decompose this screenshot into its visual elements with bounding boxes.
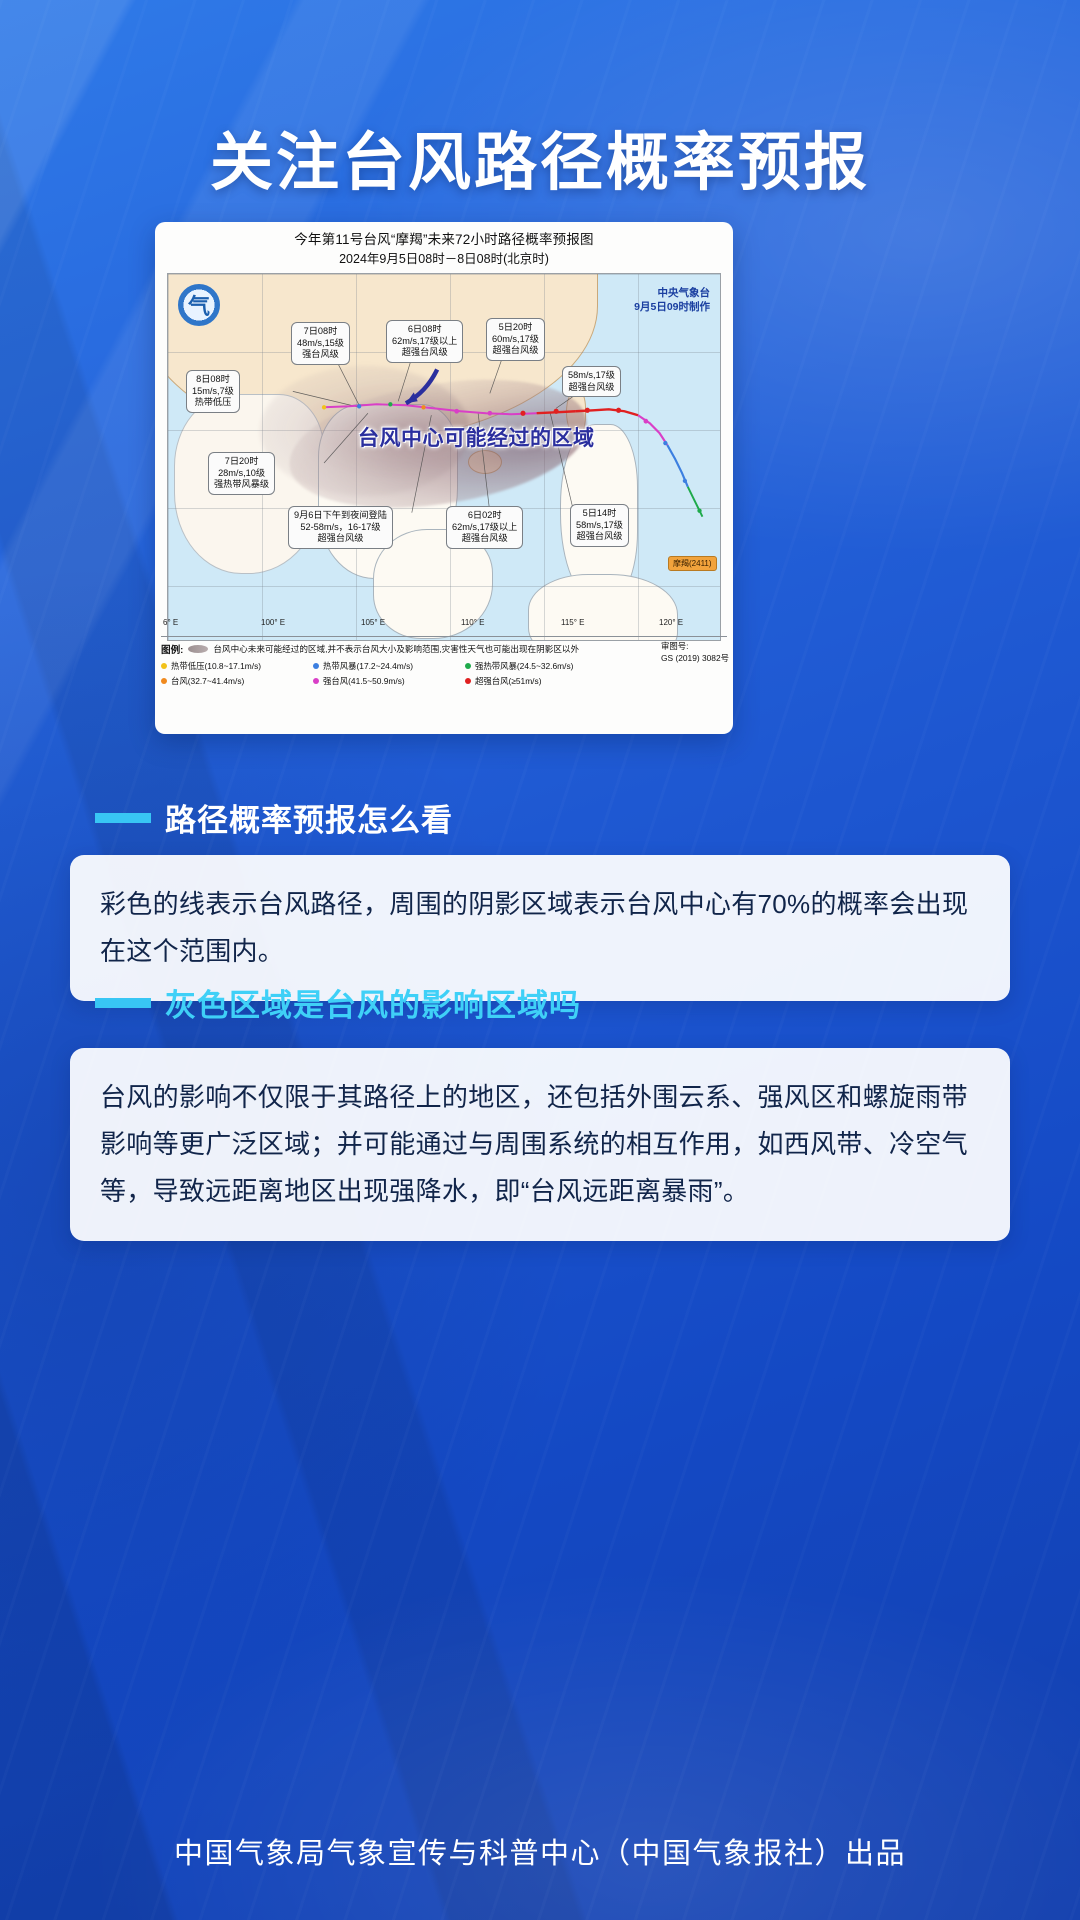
legend-note: 台风中心未来可能经过的区域,并不表示台风大小及影响范围,灾害性天气也可能出现在阴… (213, 643, 579, 655)
legend-item-label: 强台风(41.5~50.9m/s) (323, 675, 405, 687)
legend-item: 热带低压(10.8~17.1m/s) (161, 660, 313, 672)
legend-label: 图例: (161, 642, 183, 656)
forecast-label-5d20: 5日20时 60m/s,17级 超强台风级 (486, 318, 545, 361)
poster-root: 关注台风路径概率预报 今年第11号台风“摩羯”未来72小时路径概率预报图 202… (0, 0, 1080, 1920)
legend-dot-icon (465, 663, 471, 669)
label-category: 热带低压 (192, 397, 234, 409)
label-time: 8日08时 (192, 374, 234, 386)
map-header: 今年第11号台风“摩羯”未来72小时路径概率预报图 2024年9月5日08时－8… (161, 230, 727, 269)
label-category: 超强台风级 (568, 382, 615, 394)
issuer-stamp: 中央气象台 9月5日09时制作 (634, 286, 710, 314)
axis-tick: 110° E (461, 618, 485, 627)
legend-item: 强热带风暴(24.5~32.6m/s) (465, 660, 625, 672)
legend-item-label: 热带低压(10.8~17.1m/s) (171, 660, 261, 672)
axis-tick: 6° E (163, 618, 178, 627)
label-category: 超强台风级 (392, 347, 457, 359)
label-category: 强热带风暴级 (214, 479, 269, 491)
label-time: 7日20时 (214, 456, 269, 468)
map-title: 今年第11号台风“摩羯”未来72小时路径概率预报图 (161, 230, 727, 250)
section-title: 路径概率预报怎么看 (165, 795, 453, 840)
label-time: 9月6日下午到夜间登陆 (294, 510, 387, 522)
legend-dot-icon (313, 663, 319, 669)
forecast-label-6d02: 6日02时 62m/s,17级以上 超强台风级 (446, 506, 523, 549)
legend-item: 超强台风(≥51m/s) (465, 675, 625, 687)
label-time: 6日02时 (452, 510, 517, 522)
legend-column-3: 强热带风暴(24.5~32.6m/s) 超强台风(≥51m/s) (465, 660, 625, 687)
forecast-label-5d14: 5日14时 58m/s,17级 超强台风级 (570, 504, 629, 547)
map-legend: 图例: 台风中心未来可能经过的区域,并不表示台风大小及影响范围,灾害性天气也可能… (161, 636, 727, 687)
map-subtitle: 2024年9月5日08时－8日08时(北京时) (161, 250, 727, 269)
legend-item: 强台风(41.5~50.9m/s) (313, 675, 465, 687)
label-wind: 15m/s,7级 (192, 386, 234, 398)
label-wind: 62m/s,17级以上 (452, 522, 517, 534)
issuer-name: 中央气象台 (634, 286, 710, 300)
legend-dot-icon (161, 678, 167, 684)
label-wind: 28m/s,10级 (214, 468, 269, 480)
label-time: 5日14时 (576, 508, 623, 520)
forecast-label-7d20: 7日20时 28m/s,10级 强热带风暴级 (208, 452, 275, 495)
label-category: 强台风级 (297, 349, 344, 361)
legend-column-1: 热带低压(10.8~17.1m/s) 台风(32.7~41.4m/s) (161, 660, 313, 687)
section-heading-1: 路径概率预报怎么看 (95, 795, 453, 840)
section-title: 灰色区域是台风的影响区域吗 (165, 980, 581, 1025)
label-category: 超强台风级 (452, 533, 517, 545)
overlay-annotation: 台风中心可能经过的区域 (358, 422, 595, 452)
label-category: 超强台风级 (576, 531, 623, 543)
legend-column-2: 热带风暴(17.2~24.4m/s) 强台风(41.5~50.9m/s) (313, 660, 465, 687)
forecast-label-8d08: 8日08时 15m/s,7级 热带低压 (186, 370, 240, 413)
forecast-label-7d08: 7日08时 48m/s,15级 强台风级 (291, 322, 350, 365)
label-time: 6日08时 (392, 324, 457, 336)
axis-tick: 100° E (261, 618, 285, 627)
forecast-label-6d08: 6日08时 62m/s,17级以上 超强台风级 (386, 320, 463, 363)
axis-tick: 105° E (361, 618, 385, 627)
legend-dot-icon (161, 663, 167, 669)
label-wind: 58m/s,17级 (576, 520, 623, 532)
legend-item: 台风(32.7~41.4m/s) (161, 675, 313, 687)
storm-name-tag: 摩羯(2411) (668, 556, 717, 571)
forecast-label-superstorm-right: 58m/s,17级 超强台风级 (562, 366, 621, 397)
label-wind: 58m/s,17级 (568, 370, 615, 382)
legend-header-row: 图例: 台风中心未来可能经过的区域,并不表示台风大小及影响范围,灾害性天气也可能… (161, 642, 727, 656)
label-wind: 62m/s,17级以上 (392, 336, 457, 348)
legend-categories: 热带低压(10.8~17.1m/s) 台风(32.7~41.4m/s) 热带风暴… (161, 660, 727, 687)
legend-dot-icon (465, 678, 471, 684)
label-category: 超强台风级 (492, 345, 539, 357)
axis-tick: 120° E (659, 618, 683, 627)
approval-number: 审图号: GS (2019) 3082号 (661, 640, 729, 664)
forecast-label-landfall: 9月6日下午到夜间登陆 52-58m/s，16-17级 超强台风级 (288, 506, 393, 549)
legend-item-label: 强热带风暴(24.5~32.6m/s) (475, 660, 573, 672)
section-heading-2: 灰色区域是台风的影响区域吗 (95, 980, 581, 1025)
page-title: 关注台风路径概率预报 (0, 112, 1080, 203)
cma-logo-icon: 气 (178, 284, 220, 326)
label-wind: 60m/s,17级 (492, 334, 539, 346)
approval-label: 审图号: (661, 640, 729, 652)
legend-item: 热带风暴(17.2~24.4m/s) (313, 660, 465, 672)
label-time: 7日08时 (297, 326, 344, 338)
map-canvas: 台风中心可能经过的区域 气 中央气象台 9月5日09时制作 7日08时 48m/… (167, 273, 721, 641)
axis-tick: 115° E (561, 618, 585, 627)
map-longitude-axis: 6° E 100° E 105° E 110° E 115° E 120° E (161, 618, 727, 632)
footer-credit: 中国气象局气象宣传与科普中心（中国气象报社）出品 (0, 1830, 1080, 1872)
typhoon-map-card: 今年第11号台风“摩羯”未来72小时路径概率预报图 2024年9月5日08时－8… (155, 222, 733, 734)
accent-bar (95, 813, 151, 823)
approval-value: GS (2019) 3082号 (661, 652, 729, 664)
legend-item-label: 热带风暴(17.2~24.4m/s) (323, 660, 413, 672)
label-category: 超强台风级 (294, 533, 387, 545)
legend-item-label: 超强台风(≥51m/s) (475, 675, 541, 687)
storm-id: (2411) (689, 559, 712, 568)
accent-bar (95, 998, 151, 1008)
section-body-2: 台风的影响不仅限于其路径上的地区，还包括外围云系、强风区和螺旋雨带影响等更广泛区… (70, 1048, 1010, 1241)
label-wind: 48m/s,15级 (297, 338, 344, 350)
label-time: 5日20时 (492, 322, 539, 334)
legend-dot-icon (313, 678, 319, 684)
shaded-area-swatch-icon (188, 645, 208, 653)
issuer-time: 9月5日09时制作 (634, 300, 710, 314)
legend-item-label: 台风(32.7~41.4m/s) (171, 675, 244, 687)
label-wind: 52-58m/s，16-17级 (294, 522, 387, 534)
storm-name: 摩羯 (673, 559, 689, 568)
